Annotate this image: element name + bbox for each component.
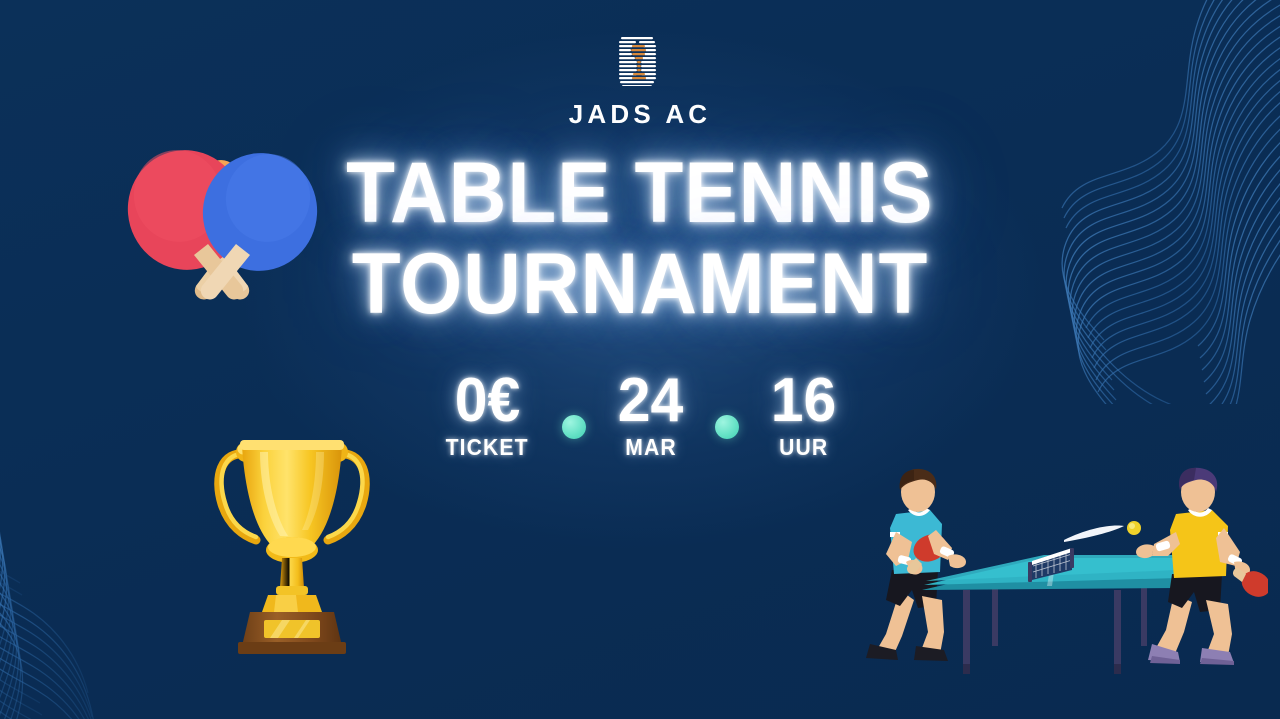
- fact-time-label: UUR: [779, 434, 828, 461]
- crossed-ping-pong-paddles-illustration: [108, 126, 336, 312]
- brand-block: JADS AC: [0, 34, 1280, 127]
- fact-time: 16 UUR: [769, 372, 838, 461]
- fact-date-label: MAR: [625, 434, 677, 461]
- left-player: [866, 469, 966, 661]
- brand-name: JADS AC: [569, 101, 712, 127]
- dot-separator-icon: [562, 415, 586, 439]
- dot-separator-icon-2: [715, 415, 739, 439]
- fact-price-value: 0€: [454, 372, 520, 429]
- fact-price: 0€ TICKET: [442, 372, 532, 461]
- fact-date-value: 24: [618, 372, 684, 429]
- table-tennis-players-illustration: [856, 466, 1268, 678]
- title-line-2: TOURNAMENT: [352, 243, 929, 326]
- fact-time-value: 16: [771, 372, 837, 429]
- fact-date: 24 MAR: [616, 372, 685, 461]
- poster-canvas: JADS AC TABLE TENNIS TOURNAMENT 0€ TICKE…: [0, 0, 1280, 719]
- gold-trophy-illustration: [204, 420, 380, 656]
- fact-price-label: TICKET: [446, 434, 529, 461]
- ball-with-motion-trail: [1064, 521, 1141, 542]
- trophy-striped-logo-icon: [615, 34, 665, 88]
- title-line-1: TABLE TENNIS: [346, 152, 933, 235]
- event-facts-row: 0€ TICKET 24 MAR 16 UUR: [0, 372, 1280, 461]
